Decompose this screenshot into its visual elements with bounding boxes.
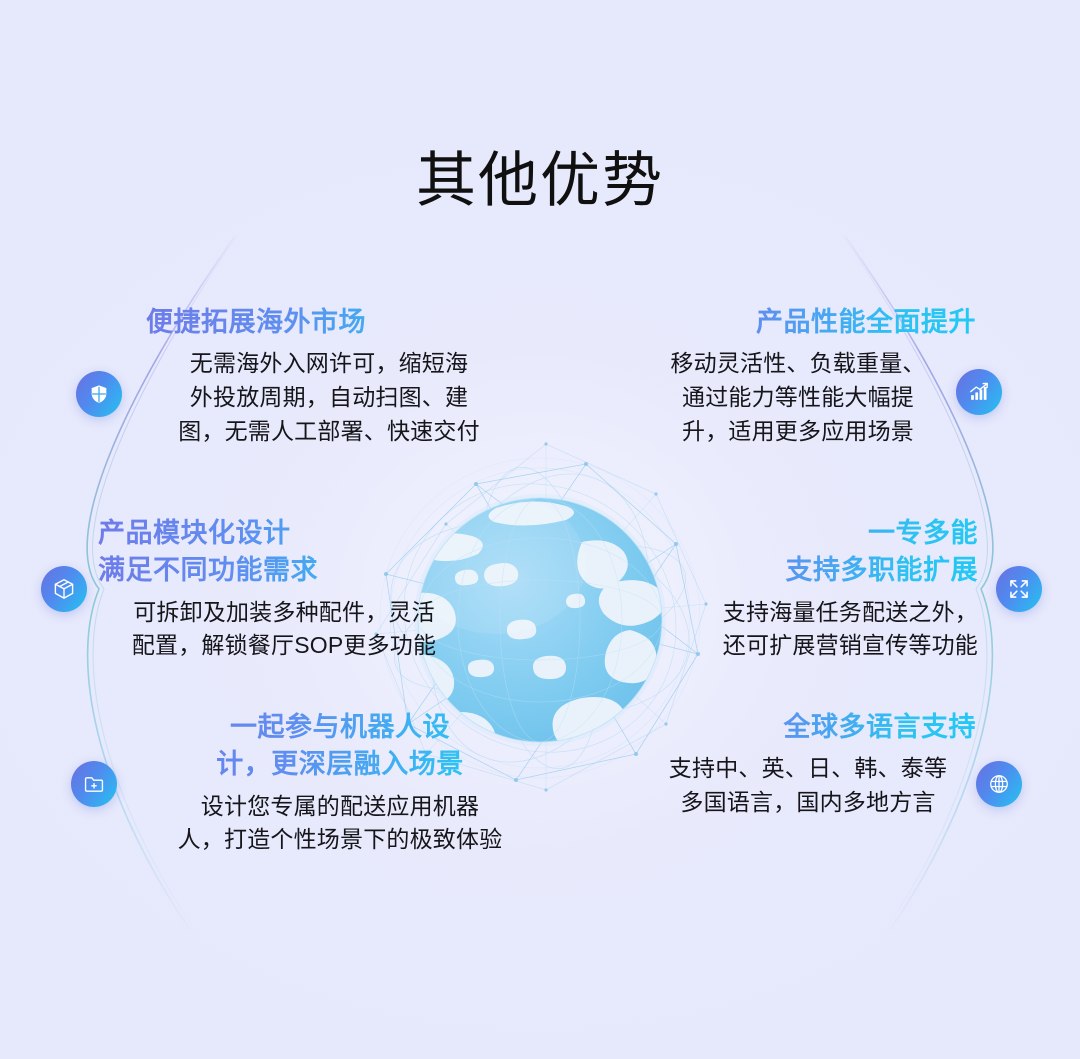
feature-block-modular-design: 产品模块化设计 满足不同功能需求 可拆卸及加装多种配件，灵活 配置，解锁餐厅SO… [98, 515, 470, 663]
feature-body: 无需海外入网许可，缩短海 外投放周期，自动扫图、建 图，无需人工部署、快速交付 [146, 347, 512, 448]
feature-block-co-design: 一起参与机器人设 计，更深层融入场景 设计您专属的配送应用机器 人，打造个性场景… [130, 709, 550, 857]
feature-heading: 产品性能全面提升 [620, 304, 976, 341]
feature-body: 支持中、英、日、韩、泰等 多国语言，国内多地方言 [640, 752, 976, 820]
feature-block-multi-language: 全球多语言支持 支持中、英、日、韩、泰等 多国语言，国内多地方言 [640, 709, 976, 820]
feature-icon-badge-modular-design [41, 566, 87, 612]
expand-arrows-icon [1008, 578, 1030, 600]
feature-body: 设计您专属的配送应用机器 人，打造个性场景下的极致体验 [130, 790, 550, 858]
feature-icon-badge-product-performance [956, 369, 1002, 415]
feature-body: 移动灵活性、负载重量、 通过能力等性能大幅提 升，适用更多应用场景 [620, 347, 976, 448]
bar-chart-growth-icon [968, 381, 990, 403]
feature-heading: 一起参与机器人设 计，更深层融入场景 [130, 709, 550, 784]
globe-icon [988, 773, 1010, 795]
cube-icon [52, 577, 76, 601]
advantages-page: 其他优势 便捷拓展海外市场 无需海外入网许可，缩短海 外投放周期，自动扫图、建 … [0, 0, 1080, 1059]
feature-heading: 全球多语言支持 [640, 709, 976, 746]
feature-block-overseas-market: 便捷拓展海外市场 无需海外入网许可，缩短海 外投放周期，自动扫图、建 图，无需人… [146, 304, 512, 449]
feature-body: 可拆卸及加装多种配件，灵活 配置，解锁餐厅SOP更多功能 [98, 596, 470, 664]
feature-heading: 便捷拓展海外市场 [146, 304, 512, 341]
feature-icon-badge-multi-language [976, 761, 1022, 807]
feature-block-product-performance: 产品性能全面提升 移动灵活性、负载重量、 通过能力等性能大幅提 升，适用更多应用… [620, 304, 976, 449]
feature-block-multi-function: 一专多能 支持多职能扩展 支持海量任务配送之外， 还可扩展营销宣传等功能 [648, 515, 978, 663]
feature-icon-badge-multi-function [996, 566, 1042, 612]
shield-icon [88, 383, 110, 405]
feature-body: 支持海量任务配送之外， 还可扩展营销宣传等功能 [648, 596, 978, 664]
feature-icon-badge-co-design [71, 761, 117, 807]
feature-icon-badge-overseas-market [76, 371, 122, 417]
folder-plus-icon [83, 773, 105, 795]
page-title: 其他优势 [0, 146, 1080, 215]
feature-heading: 一专多能 支持多职能扩展 [648, 515, 978, 590]
feature-heading: 产品模块化设计 满足不同功能需求 [98, 515, 470, 590]
